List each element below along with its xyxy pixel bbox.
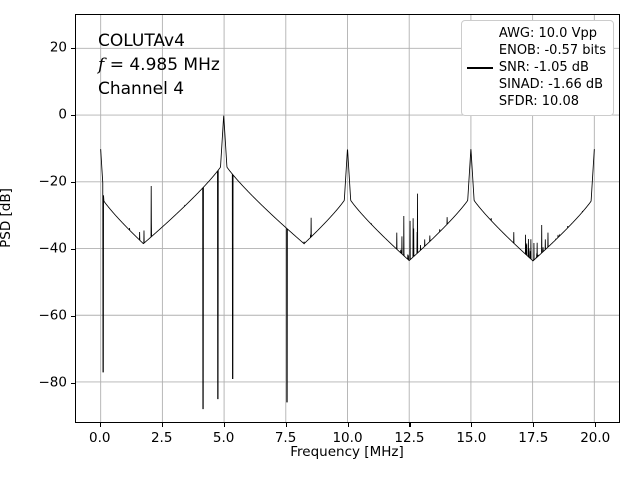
x-tick-mark — [286, 423, 287, 427]
legend-entries: AWG: 10.0 VppENOB: -0.57 bitsSNR: -1.05 … — [499, 26, 606, 110]
plot-annotation: COLUTAv4 f = 4.985 MHz Channel 4 — [98, 29, 220, 101]
x-tick-label: 20.0 — [580, 432, 610, 446]
y-tick-label: 0 — [58, 108, 67, 122]
x-tick-mark — [533, 423, 534, 427]
y-tick-label: −80 — [39, 376, 68, 390]
y-tick-label: −40 — [39, 242, 68, 256]
x-tick-mark — [471, 423, 472, 427]
x-tick-label: 0.0 — [89, 432, 110, 446]
legend-entry: AWG: 10.0 Vpp — [499, 26, 606, 43]
plot-area: COLUTAv4 f = 4.985 MHz Channel 4 AWG: 10… — [75, 14, 620, 423]
frequency-symbol: f — [98, 55, 104, 75]
x-tick-label: 17.5 — [518, 432, 548, 446]
x-tick-label: 15.0 — [456, 432, 486, 446]
y-tick-label: −60 — [39, 309, 68, 323]
annotation-channel: Channel 4 — [98, 77, 220, 101]
x-tick-mark — [409, 423, 410, 427]
x-tick-mark — [162, 423, 163, 427]
y-tick-label: −20 — [39, 175, 68, 189]
x-tick-mark — [224, 423, 225, 427]
x-tick-mark — [100, 423, 101, 427]
legend-line-sample-icon — [467, 67, 493, 69]
frequency-value: = 4.985 MHz — [110, 55, 220, 75]
psd-trace-path — [101, 116, 595, 409]
legend-entry: SINAD: -1.66 dB — [499, 77, 606, 94]
x-tick-mark — [348, 423, 349, 427]
legend-entry: ENOB: -0.57 bits — [499, 43, 606, 60]
x-tick-label: 2.5 — [151, 432, 172, 446]
annotation-frequency: f = 4.985 MHz — [98, 53, 220, 77]
x-axis-label: Frequency [MHz] — [290, 444, 403, 460]
legend-entry: SFDR: 10.08 — [499, 94, 606, 111]
x-tick-mark — [595, 423, 596, 427]
psd-figure: COLUTAv4 f = 4.985 MHz Channel 4 AWG: 10… — [0, 0, 640, 480]
legend-entry: SNR: -1.05 dB — [499, 60, 606, 77]
y-axis-label: PSD [dB] — [0, 188, 14, 248]
legend-box: AWG: 10.0 VppENOB: -0.57 bitsSNR: -1.05 … — [461, 20, 614, 116]
y-tick-label: 20 — [50, 41, 67, 55]
annotation-device: COLUTAv4 — [98, 29, 220, 53]
x-tick-label: 5.0 — [213, 432, 234, 446]
